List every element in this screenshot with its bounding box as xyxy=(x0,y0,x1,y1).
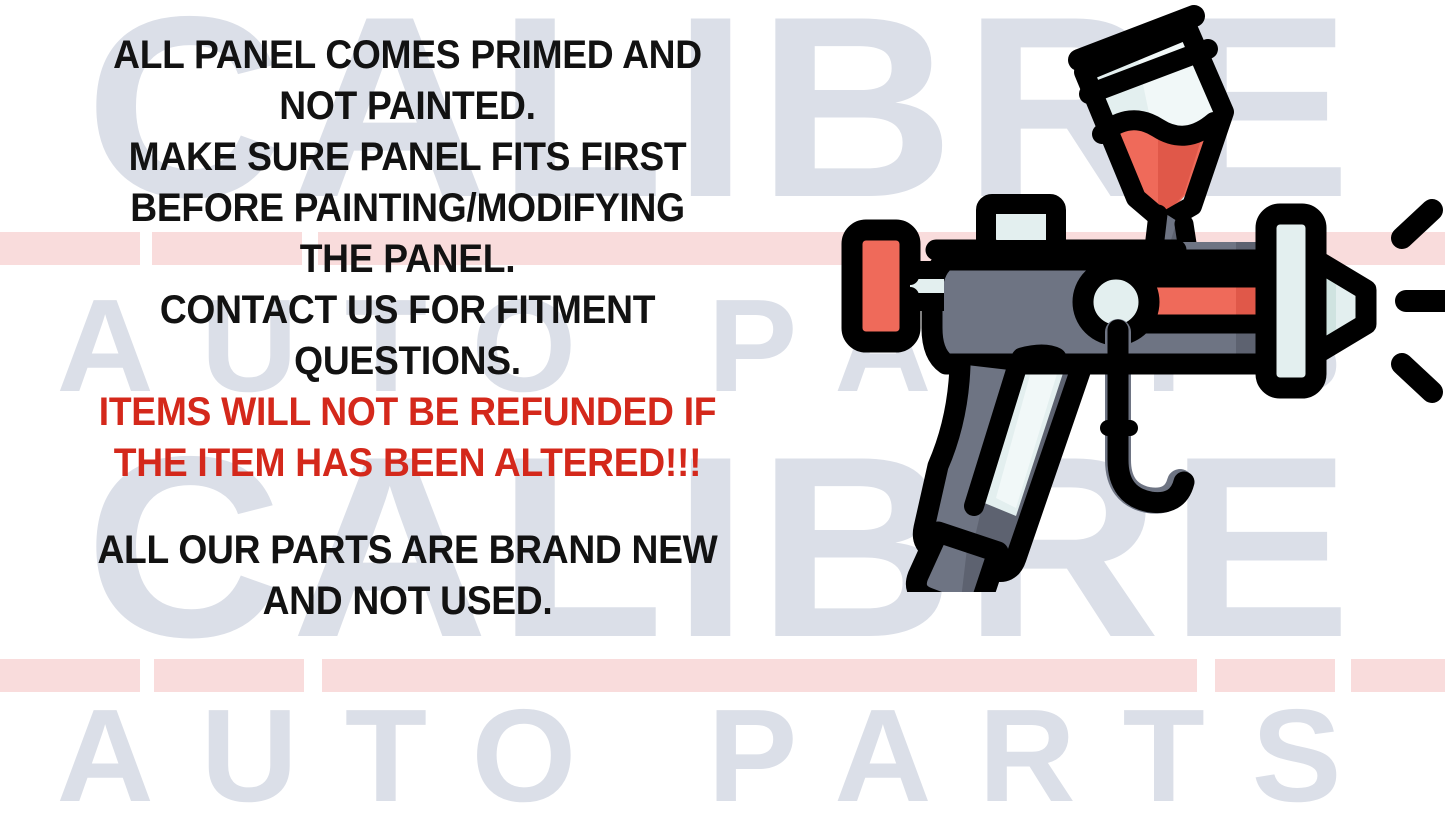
stripe-band-bottom xyxy=(0,659,1445,692)
stripe-segment xyxy=(0,659,140,692)
watermark-autoparts-bottom: AUTO PARTS xyxy=(0,690,1445,813)
notice-line: MAKE SURE PANEL FITS FIRST xyxy=(29,132,787,183)
notice-line: AND NOT USED. xyxy=(29,576,787,627)
notice-line-warning: ITEMS WILL NOT BE REFUNDED IF xyxy=(29,387,787,438)
notice-line: NOT PAINTED. xyxy=(29,81,787,132)
notice-line-warning: THE ITEM HAS BEEN ALTERED!!! xyxy=(29,438,787,489)
spray-lines xyxy=(1402,210,1445,392)
stripe-segment xyxy=(154,659,304,692)
stripe-gap xyxy=(304,659,322,692)
stripe-segment xyxy=(1215,659,1335,692)
notice-line: THE PANEL. xyxy=(29,234,787,285)
stripe-segment xyxy=(1351,659,1445,692)
spray-gun-illustration xyxy=(836,0,1445,592)
notice-line: ALL PANEL COMES PRIMED AND xyxy=(29,30,787,81)
stripe-gap xyxy=(140,659,154,692)
paint-cup-icon xyxy=(1074,16,1228,224)
notice-line: CONTACT US FOR FITMENT xyxy=(29,285,787,336)
notice-line: ALL OUR PARTS ARE BRAND NEW xyxy=(29,525,787,576)
stripe-gap xyxy=(1335,659,1351,692)
promo-banner: CALIBRE AUTO PARTS CALIBRE AUTO PARTS AL… xyxy=(0,0,1445,813)
stripe-gap xyxy=(1197,659,1215,692)
notice-line-spacer xyxy=(29,489,787,525)
stripe-segment xyxy=(322,659,1197,692)
notice-text-block: ALL PANEL COMES PRIMED AND NOT PAINTED. … xyxy=(0,0,815,627)
handle xyxy=(916,355,1082,592)
notice-line: QUESTIONS. xyxy=(29,336,787,387)
notice-line: BEFORE PAINTING/MODIFYING xyxy=(29,183,787,234)
nozzle xyxy=(1266,214,1366,388)
